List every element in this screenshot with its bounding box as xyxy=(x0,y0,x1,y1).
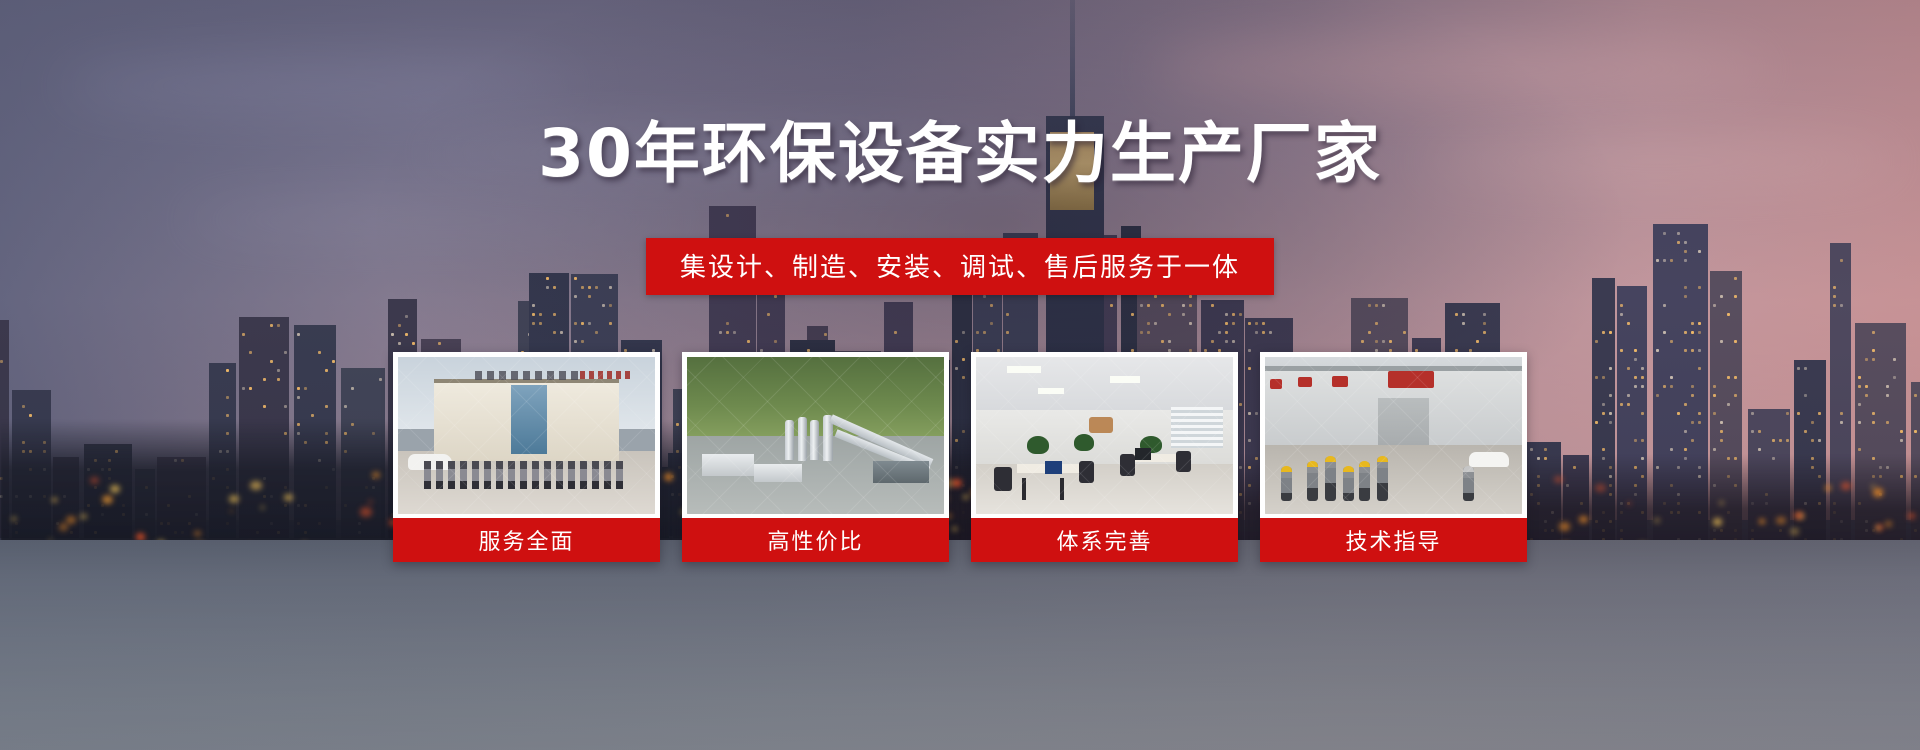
warehouse-shed xyxy=(873,461,929,483)
staff-member xyxy=(472,461,479,489)
worker xyxy=(1281,467,1292,501)
staff-member xyxy=(460,461,467,489)
feature-card-caption: 服务全面 xyxy=(393,518,660,562)
photo-floor xyxy=(976,464,1233,514)
feature-card-caption: 技术指导 xyxy=(1260,518,1527,562)
warehouse-shed xyxy=(754,464,802,482)
ceiling-light xyxy=(1038,388,1064,394)
feature-card-photo xyxy=(1265,357,1522,514)
staff-member xyxy=(436,461,443,489)
banner-content: 30年环保设备实力生产厂家 集设计、制造、安装、调试、售后服务于一体 服务全面 xyxy=(0,0,1920,750)
helmet-icon xyxy=(1359,461,1370,467)
building-sign-icon xyxy=(475,371,583,380)
staff-member xyxy=(592,461,599,489)
wall-logo-icon xyxy=(1089,417,1113,433)
helmet-icon xyxy=(1463,466,1474,472)
worker xyxy=(1343,467,1354,501)
wall-slogan-icon xyxy=(1270,379,1282,389)
staff-member xyxy=(580,461,587,489)
staff-member xyxy=(448,461,455,489)
feature-card-caption: 高性价比 xyxy=(682,518,949,562)
ceiling-light xyxy=(1007,366,1041,373)
ceiling-light xyxy=(1110,376,1140,383)
parked-car xyxy=(1469,452,1509,467)
page-title: 30年环保设备实力生产厂家 xyxy=(0,100,1920,196)
monitor xyxy=(1045,461,1062,474)
factory-door xyxy=(1378,398,1429,448)
wall-slogan-icon xyxy=(1332,376,1348,387)
helmet-icon xyxy=(1281,466,1292,472)
office-window xyxy=(1171,407,1222,448)
feature-card[interactable]: 体系完善 xyxy=(971,352,1238,562)
staff-member xyxy=(616,461,623,489)
helmet-icon xyxy=(1377,456,1388,462)
feature-card[interactable]: 技术指导 xyxy=(1260,352,1527,562)
worker xyxy=(1377,457,1388,501)
staff-member xyxy=(568,461,575,489)
staff-member xyxy=(532,461,539,489)
silo xyxy=(810,420,819,460)
office-chair xyxy=(1176,451,1191,472)
wall-slogan-icon xyxy=(1388,371,1434,388)
desk-leg xyxy=(1060,478,1064,500)
monitor xyxy=(1135,448,1151,460)
staff-member xyxy=(484,461,491,489)
feature-card-photo xyxy=(398,357,655,514)
worker xyxy=(1307,462,1318,501)
staff-member xyxy=(544,461,551,489)
office-plant xyxy=(1027,436,1049,454)
feature-card[interactable]: 高性价比 xyxy=(682,352,949,562)
helmet-icon xyxy=(1343,466,1354,472)
office-chair xyxy=(1079,461,1094,483)
building-phone-icon xyxy=(580,371,631,379)
staff-member xyxy=(604,461,611,489)
worker xyxy=(1325,457,1336,501)
staff-member xyxy=(496,461,503,489)
helmet-icon xyxy=(1307,461,1318,467)
hero-banner: 30年环保设备实力生产厂家 集设计、制造、安装、调试、售后服务于一体 服务全面 xyxy=(0,0,1920,750)
worker xyxy=(1359,462,1370,501)
staff-member xyxy=(508,461,515,489)
feature-card-photo xyxy=(687,357,944,514)
staff-member xyxy=(556,461,563,489)
staff-member xyxy=(424,461,431,489)
warehouse-shed xyxy=(702,454,754,476)
silo xyxy=(798,417,807,461)
photo-ceiling xyxy=(976,357,1233,410)
building-glass-facade xyxy=(511,385,547,454)
feature-card-caption: 体系完善 xyxy=(971,518,1238,562)
feature-card[interactable]: 服务全面 xyxy=(393,352,660,562)
office-chair xyxy=(994,467,1012,491)
staff-member xyxy=(520,461,527,489)
worker xyxy=(1463,467,1474,501)
office-chair xyxy=(1120,454,1135,476)
wall-slogan-icon xyxy=(1298,377,1312,387)
feature-card-list: 服务全面 高性价比 xyxy=(393,352,1527,562)
desk-leg xyxy=(1022,478,1026,500)
silo xyxy=(785,420,794,460)
subtitle-badge: 集设计、制造、安装、调试、售后服务于一体 xyxy=(646,238,1274,295)
helmet-icon xyxy=(1325,456,1336,462)
office-plant xyxy=(1074,434,1094,451)
feature-card-photo xyxy=(976,357,1233,514)
